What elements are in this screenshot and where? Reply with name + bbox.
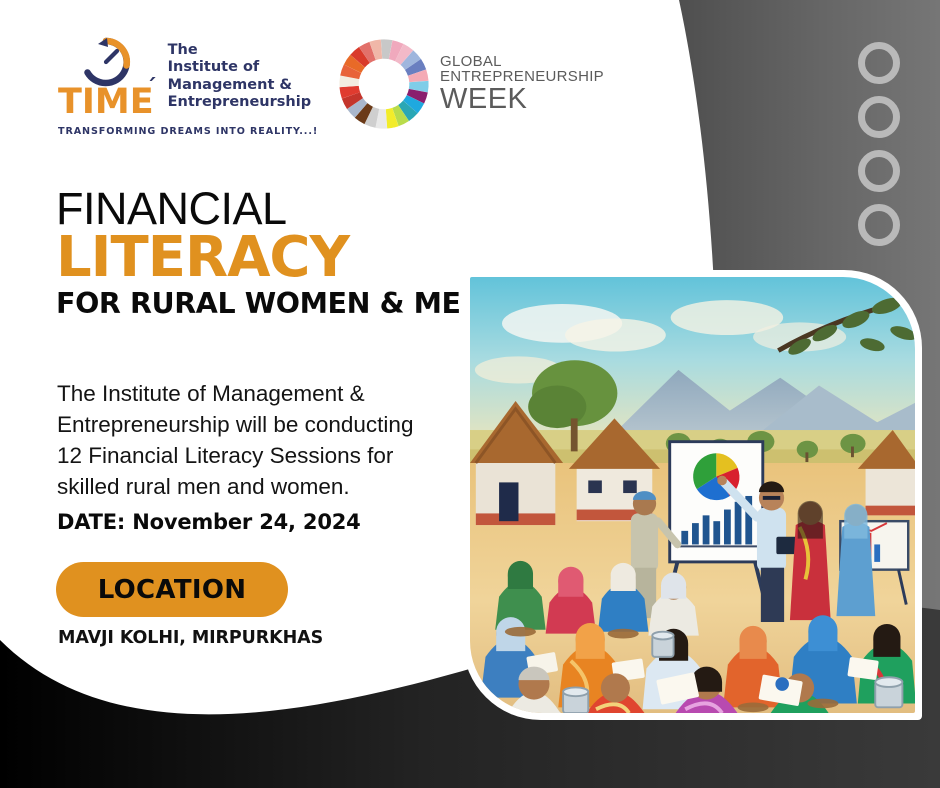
event-photo-frame (463, 270, 922, 720)
gew-line-2: ENTREPRENEURSHIP (440, 69, 604, 84)
ring-icon (858, 42, 900, 84)
ring-icon (858, 204, 900, 246)
time-logomark: TIME´ (58, 34, 154, 119)
time-tagline: TRANSFORMING DREAMS INTO REALITY...! (58, 126, 290, 137)
logo-row: TIME´ The Institute of Management & Entr… (58, 34, 604, 137)
color-wheel-ring-icon (338, 38, 430, 130)
event-date: DATE: November 24, 2024 (57, 510, 361, 534)
institute-name-line-2: Institute of (168, 59, 311, 76)
description-paragraph: The Institute of Management & Entreprene… (57, 378, 417, 502)
gew-line-1: GLOBAL (440, 54, 604, 69)
headline-block: FINANCIAL LITERACY FOR RURAL WOMEN & MEN (56, 186, 486, 319)
ring-icon (858, 150, 900, 192)
location-button[interactable]: LOCATION (56, 562, 288, 617)
time-accent-mark: ´ (146, 79, 157, 100)
institute-name-line-4: Entrepreneurship (168, 94, 311, 111)
gew-logo: GLOBAL ENTREPRENEURSHIP WEEK (338, 38, 604, 130)
time-institute-name: The Institute of Management & Entreprene… (168, 42, 311, 112)
institute-name-line-1: The (168, 42, 311, 59)
headline-line-3: FOR RURAL WOMEN & MEN (56, 288, 486, 319)
poster-canvas: TIME´ The Institute of Management & Entr… (0, 0, 940, 788)
decorative-rings (856, 42, 902, 262)
gew-wordmark: GLOBAL ENTREPRENEURSHIP WEEK (440, 54, 604, 114)
ring-icon (858, 96, 900, 138)
headline-line-2: LITERACY (56, 230, 486, 286)
time-institute-logo: TIME´ The Institute of Management & Entr… (58, 34, 290, 137)
gew-line-3: WEEK (440, 85, 604, 114)
location-address: MAVJI KOLHI, MIRPURKHAS (58, 628, 323, 648)
institute-name-line-3: Management & (168, 77, 311, 94)
event-photo (470, 277, 915, 713)
time-wordmark: TIME´ (58, 86, 154, 119)
